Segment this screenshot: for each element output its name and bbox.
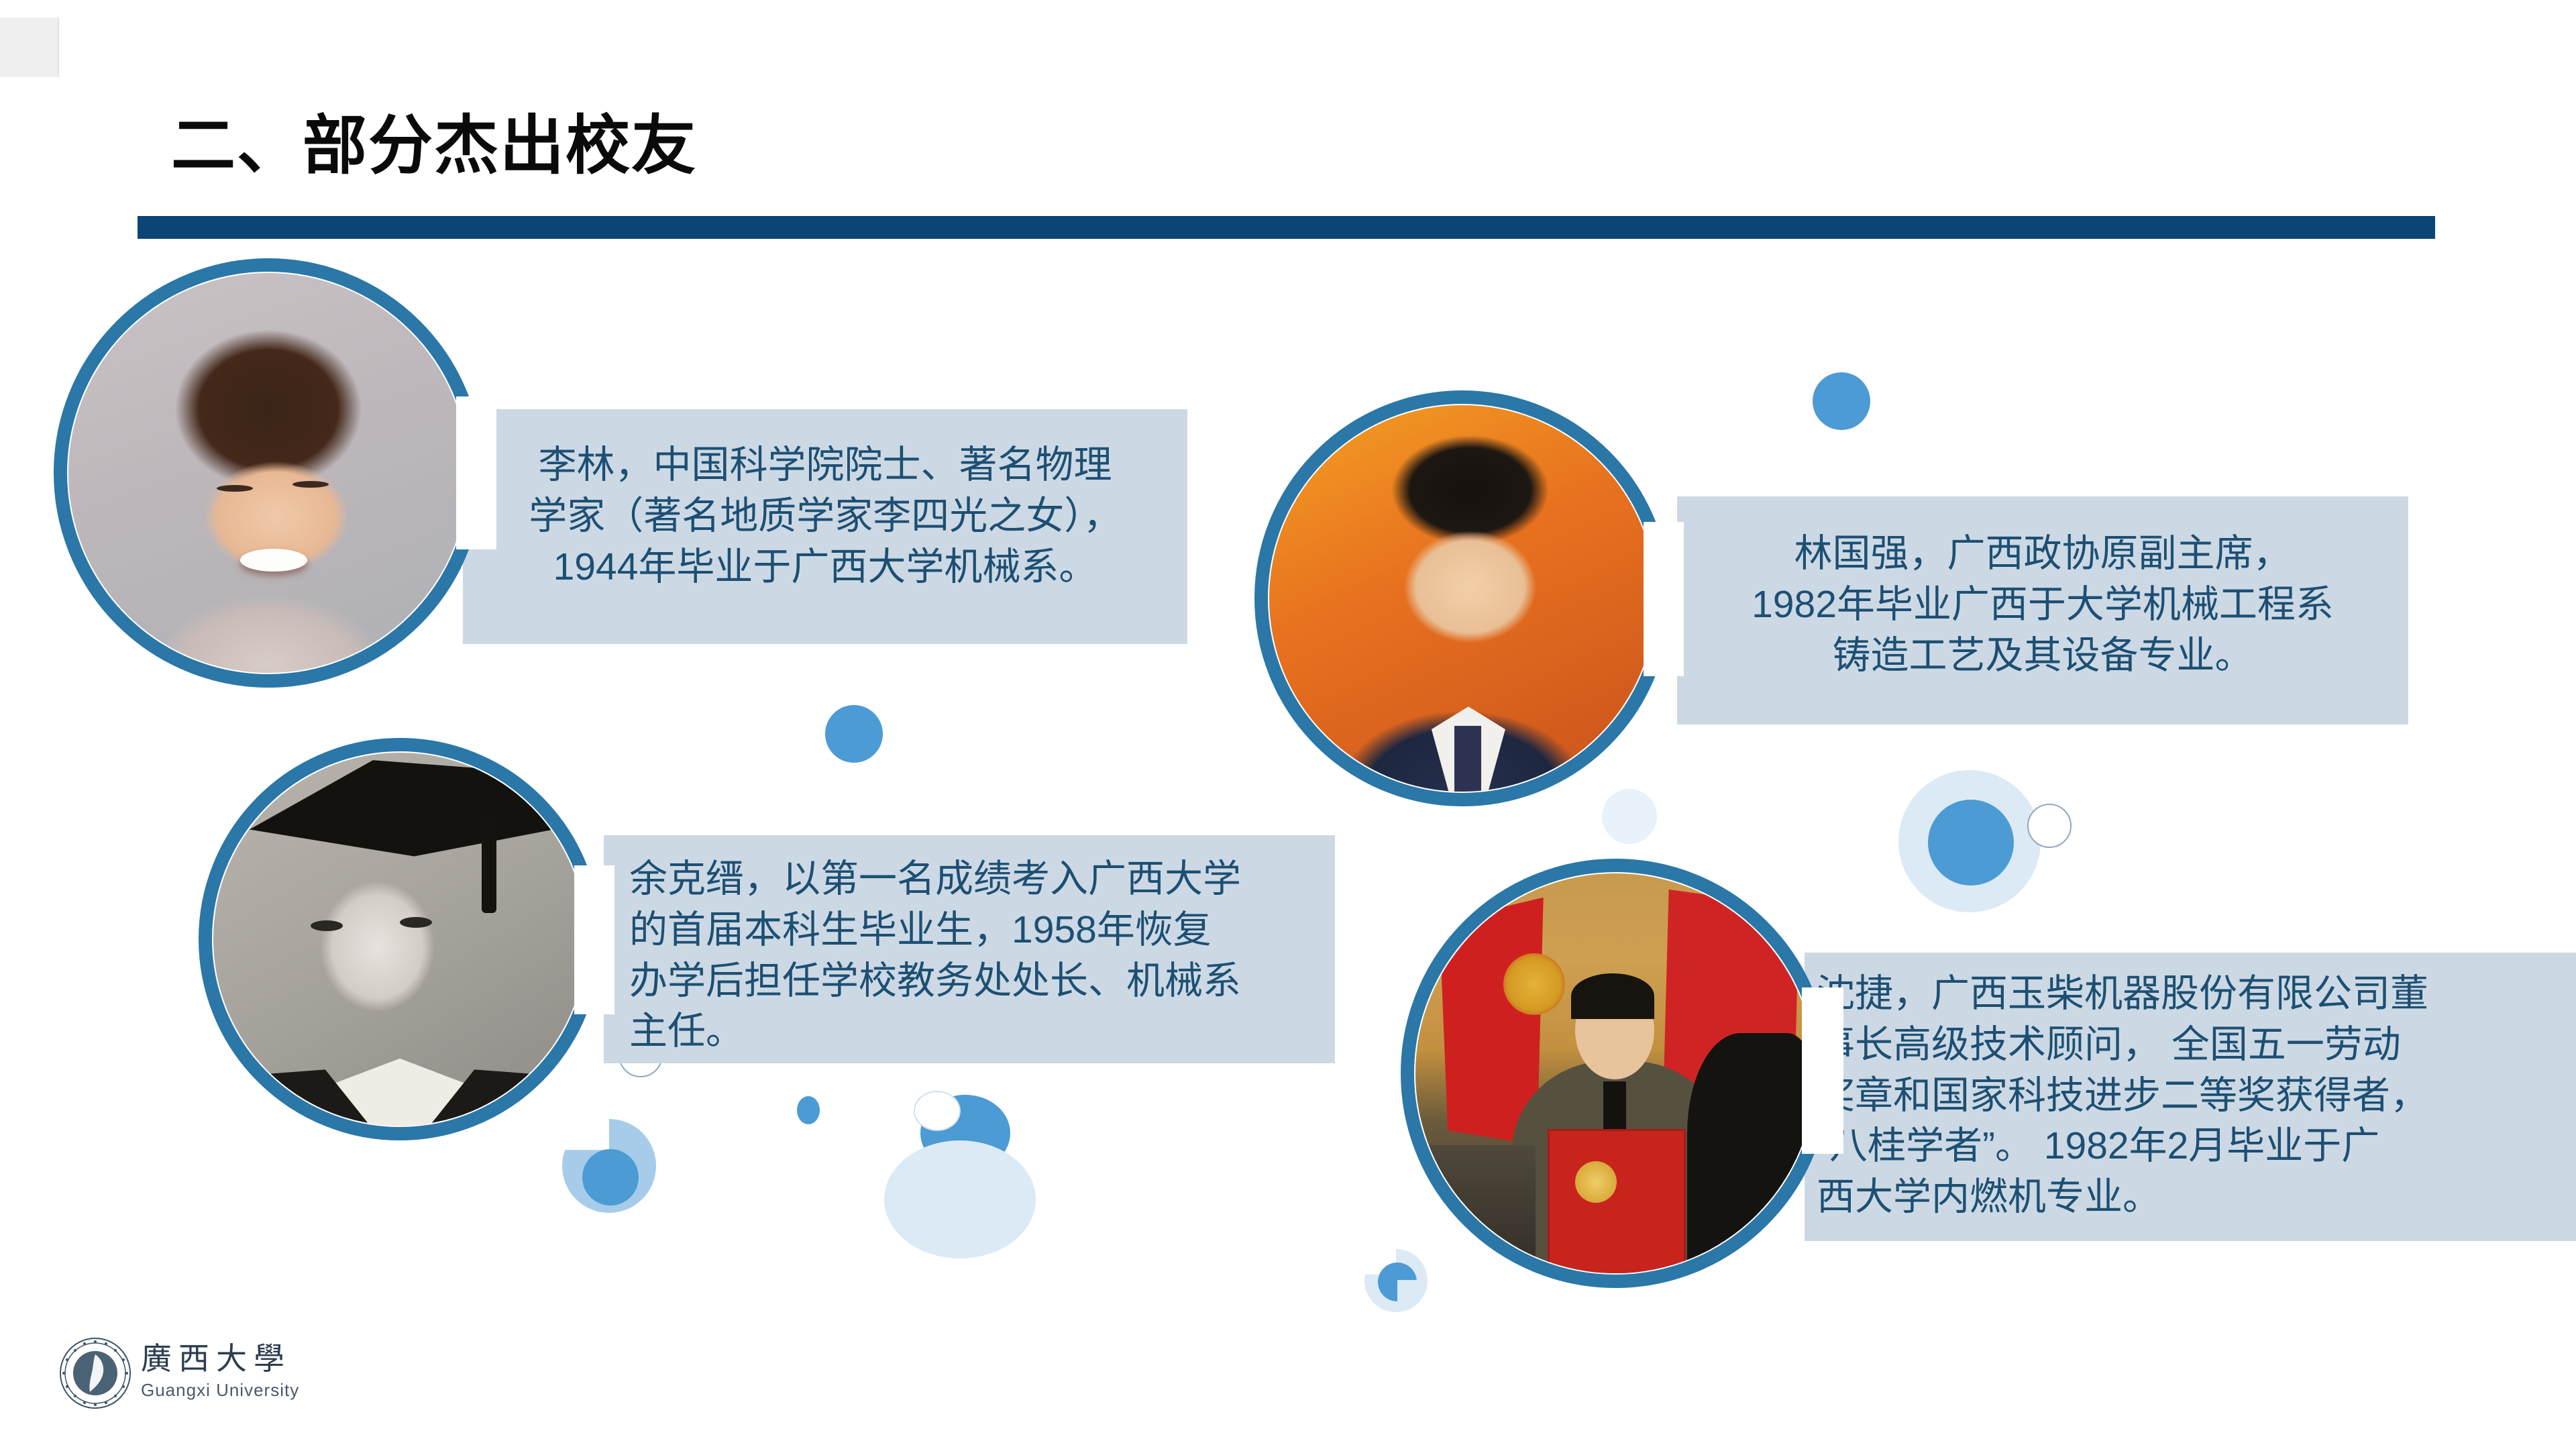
deco-circle-outline-center <box>914 1091 961 1131</box>
callout-line: 学家（著名地质学家李四光之女）， <box>483 491 1167 542</box>
callout-line: 主任。 <box>629 1006 1335 1057</box>
photo-shen-jie-ring-notch <box>1802 987 1843 1154</box>
photo-lin-guoqiang-ring-notch <box>1644 522 1684 676</box>
university-seal-icon <box>59 1337 131 1409</box>
photo-lin-guoqiang-ring <box>1254 390 1670 806</box>
photo-lin-guoqiang <box>1254 390 1670 806</box>
callout-line: 西大学内燃机专业。 <box>1817 1172 2576 1223</box>
callout-line: 1982年毕业广西于大学机械工程系 <box>1688 580 2398 631</box>
callout-line: 余克缙，以第一名成绩考入广西大学 <box>629 854 1335 905</box>
deco-circle-blue-small-center <box>797 1096 820 1124</box>
photo-yu-kejin-ring-notch <box>574 865 614 1014</box>
corner-tab <box>0 17 59 77</box>
callout-shen-jie: 沈捷，广西玉柴机器股份有限公司董 事长高级技术顾问， 全国五一劳动 奖章和国家科… <box>1805 953 2576 1241</box>
photo-yu-kejin-ring <box>199 738 601 1140</box>
callout-li-lin: 李林，中国科学院院士、著名物理 学家（著名地质学家李四光之女）， 1944年毕业… <box>463 409 1187 644</box>
callout-line: 办学后担任学校教务处处长、机械系 <box>629 956 1335 1007</box>
title-underline-bar <box>138 216 2435 239</box>
deco-circle-pale-under-photo4 <box>1602 789 1657 844</box>
callout-line: 林国强，广西政协原副主席， <box>1688 529 2398 580</box>
callout-lin-guoqiang: 林国强，广西政协原副主席， 1982年毕业广西于大学机械工程系 铸造工艺及其设备… <box>1677 496 2408 724</box>
callout-line: “八桂学者”。 1982年2月毕业于广 <box>1817 1121 2576 1172</box>
deco-circle-blue-top-right <box>1813 372 1870 430</box>
callout-yu-kejin: 余克缙，以第一名成绩考入广西大学 的首届本科生毕业生，1958年恢复 办学后担任… <box>604 835 1335 1063</box>
callout-line: 奖章和国家科技进步二等奖获得者， <box>1817 1071 2576 1122</box>
logo-english-name: Guangxi University <box>141 1380 299 1401</box>
callout-line: 的首届本科生毕业生，1958年恢复 <box>629 905 1335 956</box>
deco-circle-blue-inner-right <box>1928 800 2014 885</box>
callout-line: 铸造工艺及其设备专业。 <box>1688 631 2398 682</box>
photo-shen-jie-ring <box>1401 859 1830 1288</box>
photo-yu-kejin <box>199 738 601 1140</box>
callout-line: 李林，中国科学院院士、著名物理 <box>483 440 1167 491</box>
photo-li-lin-ring <box>54 258 483 688</box>
slide-root: 二、部分杰出校友 李林，中国科学院院士、著名物理 学家（著名地质学家李四光之女）… <box>0 0 2576 1449</box>
logo-chinese-name: 廣西大學 <box>141 1334 291 1379</box>
deco-circle-blue-mid-left <box>825 705 883 763</box>
university-logo: 廣西大學 Guangxi University <box>59 1332 280 1419</box>
deco-circle-pale-center <box>884 1140 1036 1258</box>
callout-line: 事长高级技术顾问， 全国五一劳动 <box>1817 1020 2576 1071</box>
callout-line: 1944年毕业于广西大学机械系。 <box>483 542 1167 593</box>
photo-li-lin-ring-notch <box>456 396 496 549</box>
photo-shen-jie <box>1401 859 1830 1288</box>
deco-circle-outline-right <box>2027 804 2072 848</box>
photo-li-lin <box>54 258 483 688</box>
callout-line: 沈捷，广西玉柴机器股份有限公司董 <box>1817 969 2576 1020</box>
page-title: 二、部分杰出校友 <box>171 114 697 178</box>
deco-circle-blue-over-pacman-left <box>582 1149 639 1205</box>
